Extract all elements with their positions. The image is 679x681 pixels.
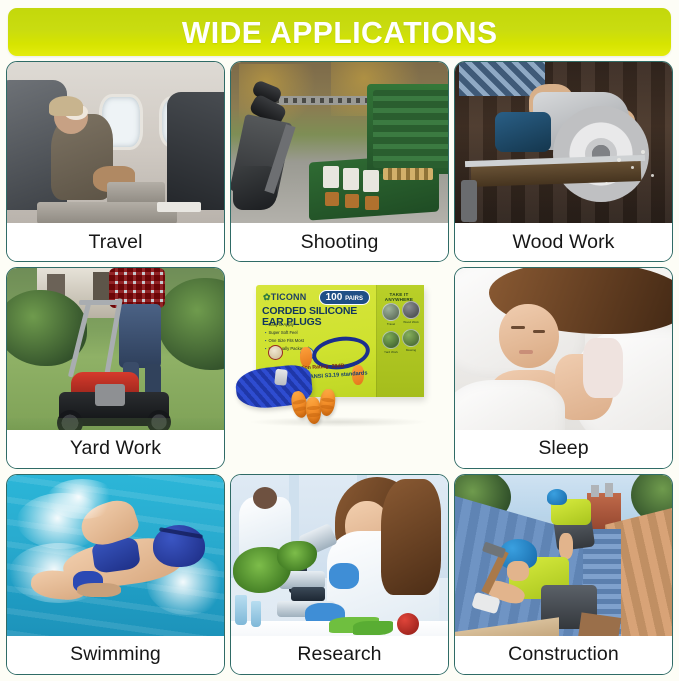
- infographic-page: WIDE APPLICATIONS: [0, 0, 679, 681]
- application-card-travel[interactable]: Travel: [6, 61, 225, 262]
- grid-cell-shooting: Shooting: [230, 61, 449, 262]
- feature-item: Super Soft Feel: [265, 329, 309, 337]
- applications-grid: Travel: [6, 61, 673, 675]
- certification-badge-1: [268, 345, 283, 360]
- photo-travel: [7, 62, 224, 223]
- side-mini-image-travel: [382, 303, 400, 321]
- product-shadow: [248, 417, 428, 427]
- quantity-unit: PAIRS: [345, 296, 363, 302]
- grid-cell-construction: Construction: [454, 474, 673, 675]
- application-card-wood-work[interactable]: Wood Work: [454, 61, 673, 262]
- photo-research: [231, 475, 448, 636]
- application-card-sleep[interactable]: Sleep: [454, 267, 673, 468]
- page-title: WIDE APPLICATIONS: [182, 17, 498, 48]
- application-card-construction[interactable]: Construction: [454, 474, 673, 675]
- card-label-construction: Construction: [455, 636, 672, 674]
- grid-cell-travel: Travel: [6, 61, 225, 262]
- label-text: Swimming: [70, 643, 161, 666]
- side-mini-image-mowing: [402, 329, 420, 347]
- card-label-sleep: Sleep: [455, 430, 672, 468]
- feature-item: One Size Fits Most: [265, 337, 309, 345]
- photo-construction: [455, 475, 672, 636]
- grid-cell-sleep: Sleep: [454, 267, 673, 468]
- product-box-side-panel: TAKE IT ANYWHERE Travel Wood Work Yard W…: [376, 285, 424, 397]
- side-mini-label-wood-work: Wood Work: [402, 320, 420, 324]
- product-brand: ✿TICONN: [263, 292, 306, 303]
- label-text: Sleep: [538, 437, 588, 460]
- card-label-shooting: Shooting: [231, 223, 448, 261]
- photo-shooting: [231, 62, 448, 223]
- label-text: Travel: [88, 231, 142, 254]
- grid-cell-product: TAKE IT ANYWHERE Travel Wood Work Yard W…: [230, 267, 449, 468]
- application-card-yard-work[interactable]: Yard Work: [6, 267, 225, 468]
- side-mini-image-wood-work: [402, 301, 420, 319]
- photo-swimming: [7, 475, 224, 636]
- card-label-research: Research: [231, 636, 448, 674]
- photo-wood-work: [455, 62, 672, 223]
- grid-cell-research: Research: [230, 474, 449, 675]
- label-text: Research: [297, 643, 381, 666]
- grid-cell-wood-work: Wood Work: [454, 61, 673, 262]
- card-label-wood-work: Wood Work: [455, 223, 672, 261]
- cord-clip: [274, 369, 288, 386]
- photo-yard-work: [7, 268, 224, 429]
- card-label-swimming: Swimming: [7, 636, 224, 674]
- header-banner: WIDE APPLICATIONS: [8, 8, 671, 56]
- ear-plug-3: [319, 389, 337, 417]
- label-text: Yard Work: [70, 437, 161, 460]
- grid-cell-swimming: Swimming: [6, 474, 225, 675]
- photo-sleep: [455, 268, 672, 429]
- side-mini-label-yard-work: Yard Work: [382, 350, 400, 354]
- quantity-value: 100: [326, 292, 343, 303]
- card-label-travel: Travel: [7, 223, 224, 261]
- label-text: Construction: [508, 643, 619, 666]
- side-mini-label-travel: Travel: [382, 322, 400, 326]
- product-showcase: TAKE IT ANYWHERE Travel Wood Work Yard W…: [230, 267, 449, 468]
- feature-item: Easy to Apply: [265, 321, 309, 329]
- leaf-icon: ✿: [263, 292, 271, 302]
- quantity-badge: 100 PAIRS: [319, 290, 370, 305]
- application-card-research[interactable]: Research: [230, 474, 449, 675]
- brand-text: TICONN: [271, 292, 307, 302]
- label-text: Wood Work: [512, 231, 614, 254]
- card-label-yard-work: Yard Work: [7, 430, 224, 468]
- application-card-shooting[interactable]: Shooting: [230, 61, 449, 262]
- side-mini-label-mowing: Mowing: [402, 348, 420, 352]
- label-text: Shooting: [301, 231, 379, 254]
- grid-cell-yard-work: Yard Work: [6, 267, 225, 468]
- application-card-swimming[interactable]: Swimming: [6, 474, 225, 675]
- side-mini-image-yard-work: [382, 331, 400, 349]
